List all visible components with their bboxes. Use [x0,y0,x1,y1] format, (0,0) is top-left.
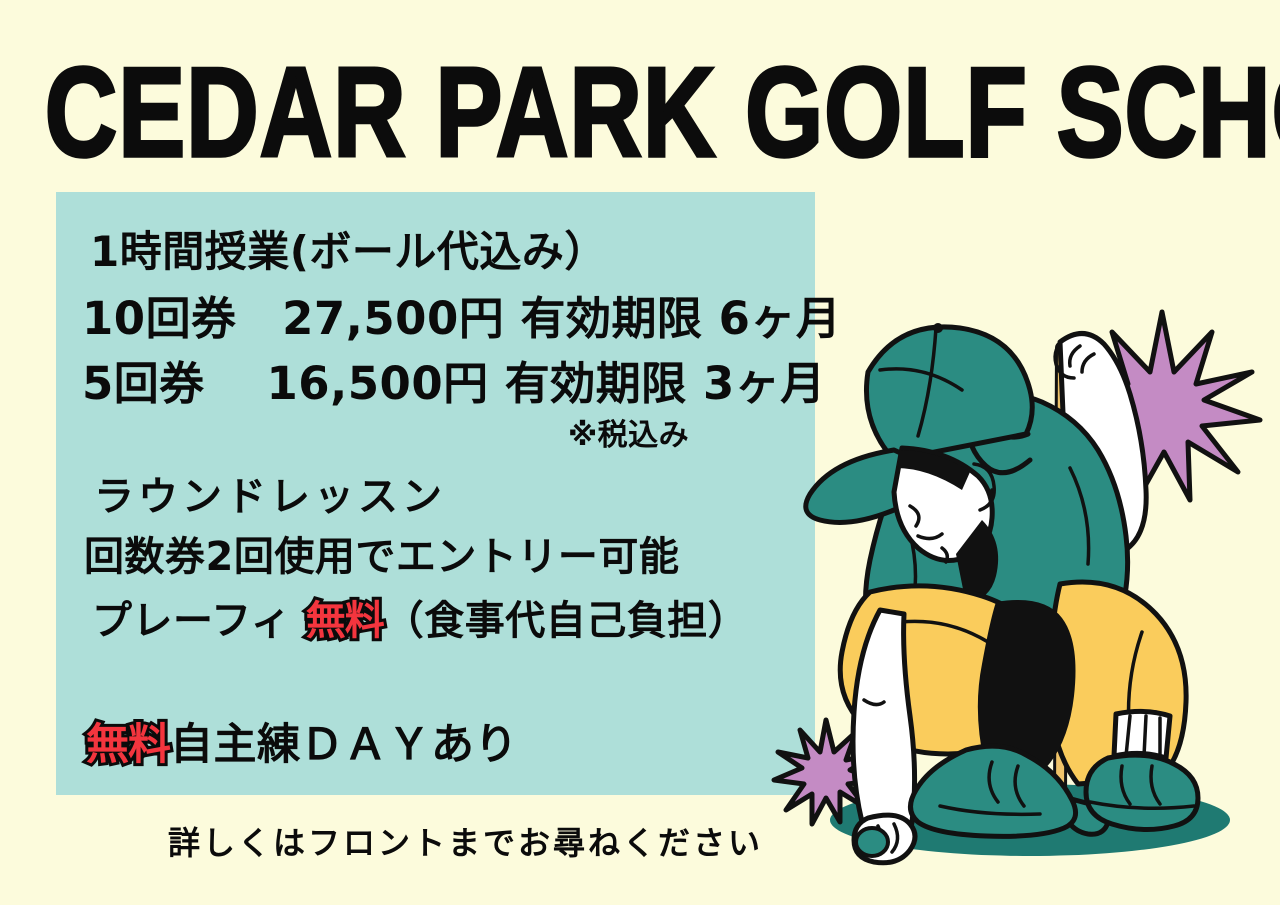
shoe-back [1086,755,1198,829]
play-fee-free-badge: 無料 [306,598,384,644]
play-fee-prefix: プレーフィ [92,598,306,644]
golf-ball [856,828,888,856]
round-lesson-heading: ラウンドレッスン [94,464,446,522]
page-title: CEDAR PARK GOLF SCHOOL [45,44,1235,181]
self-practice-label: 自主練ＤＡＹあり [170,720,518,770]
lesson-heading: 1時間授業(ボール代込み） [90,218,607,279]
poster-canvas: CEDAR PARK GOLF SCHOOL 1時間授業(ボール代込み） 10回… [0,0,1280,905]
info-panel: 1時間授業(ボール代込み） 10回券 27,500円 有効期限 6ヶ月 5回券 … [56,192,815,795]
self-practice-free-badge: 無料 [86,720,170,770]
round-lesson-entry: 回数券2回使用でエントリー可能 [84,524,679,582]
ticket-5-row: 5回券 16,500円 有効期限 3ヶ月 [82,347,826,412]
footer-note: 詳しくはフロントまでお尋ねください [168,818,763,864]
golfer-illustration: .ln { fill:none; stroke:#111; stroke-wid… [760,280,1280,880]
tax-note: ※税込み [568,410,689,454]
self-practice-row: 無料自主練ＤＡＹあり [86,710,518,772]
play-fee-row: プレーフィ 無料（食事代自己負担） [92,588,748,646]
ticket-10-row: 10回券 27,500円 有効期限 6ヶ月 [82,282,841,347]
hand-and-ball [854,815,915,863]
play-fee-suffix: （食事代自己負担） [384,598,749,644]
